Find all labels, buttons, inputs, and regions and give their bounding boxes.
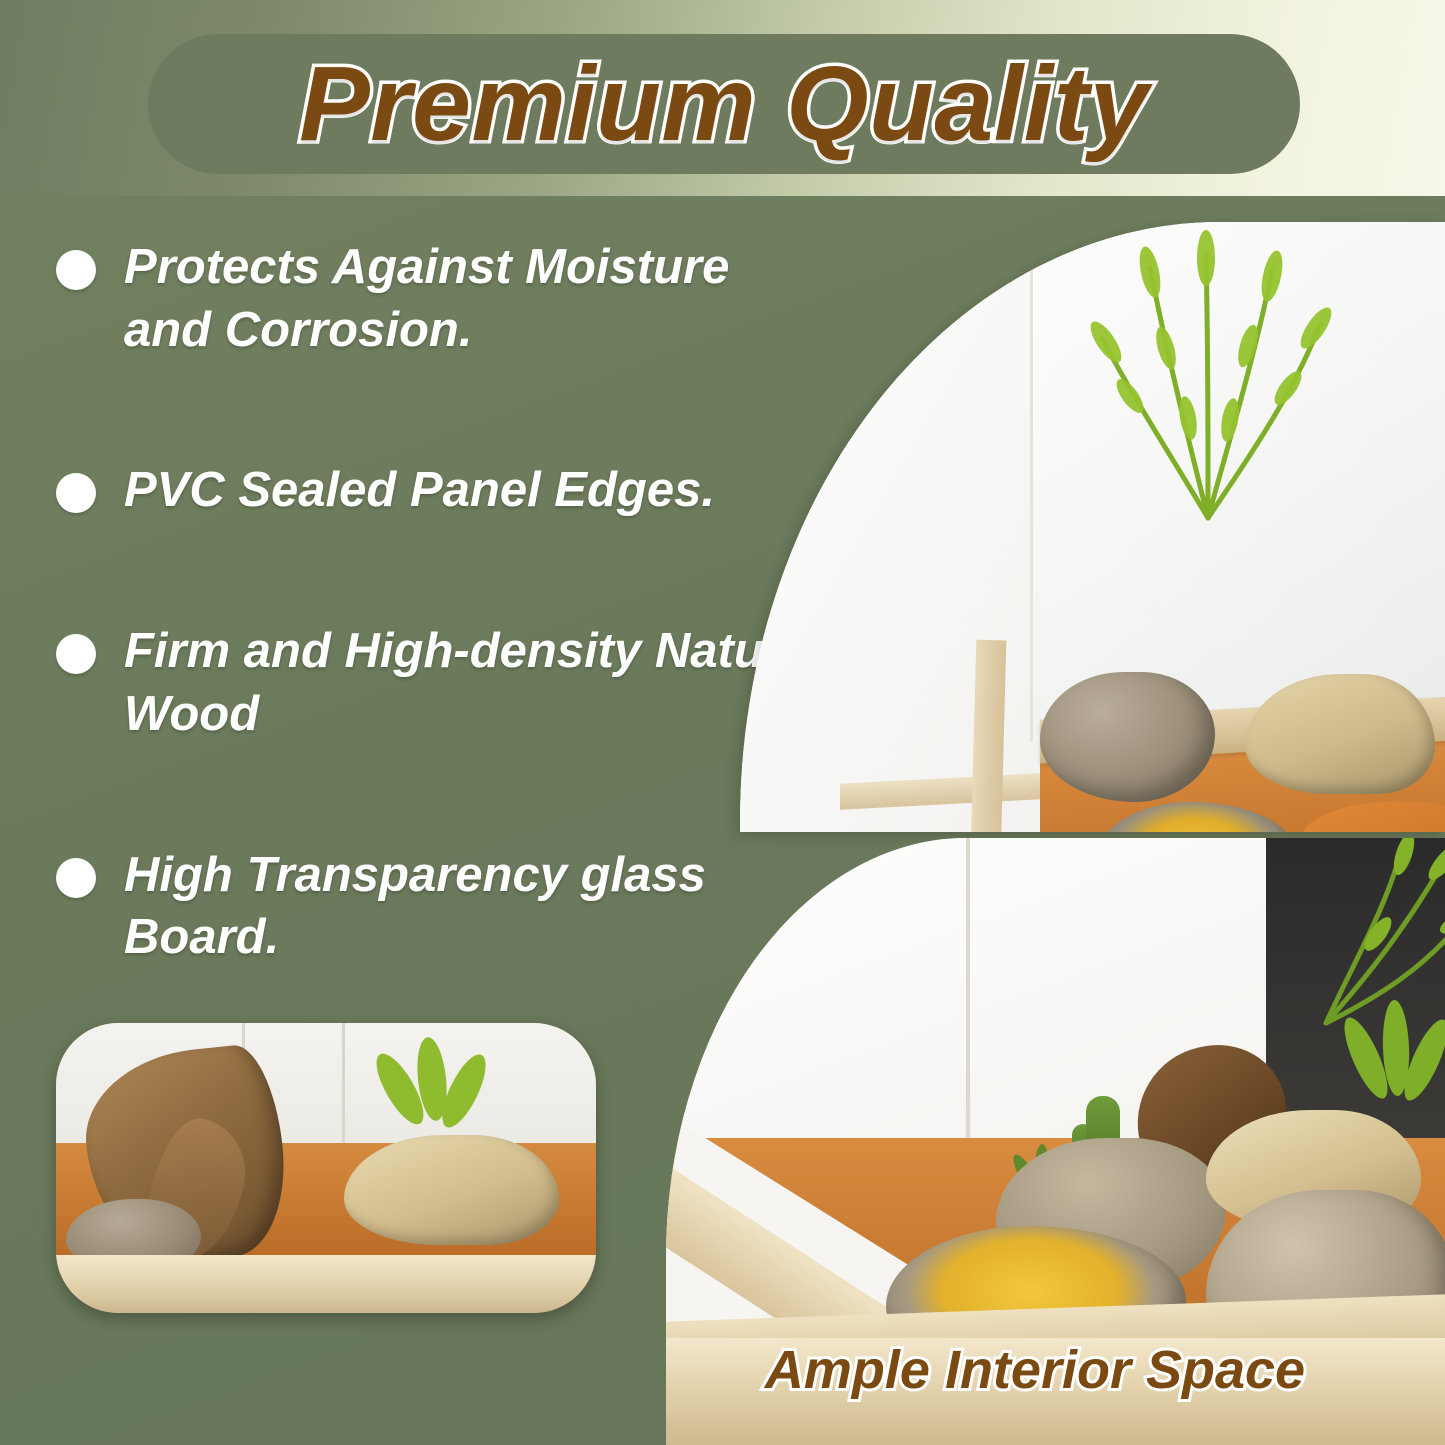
bullet-dot-icon <box>56 473 96 513</box>
bullet-dot-icon <box>56 634 96 674</box>
wood-front-rail <box>56 1255 596 1313</box>
bullet-dot-icon <box>56 250 96 290</box>
fern-icon <box>1058 228 1338 528</box>
feature-label: Protects Against Moisture and Corrosion. <box>124 236 824 361</box>
fern-plant-decor <box>1058 228 1338 528</box>
bullet-dot-icon <box>56 858 96 898</box>
product-photo-inset <box>56 1023 596 1313</box>
rock-hide-decor <box>1040 672 1215 802</box>
list-item: Firm and High-density Natural Wood <box>56 620 846 745</box>
glass-door-seam <box>966 838 970 1168</box>
feature-label: Firm and High-density Natural Wood <box>124 620 824 745</box>
dinosaur-skull-decor <box>344 1135 559 1245</box>
list-item: Protects Against Moisture and Corrosion. <box>56 236 846 361</box>
bottom-caption: Ample Interior Space <box>640 1330 1430 1410</box>
terrarium-scene-top <box>740 222 1445 832</box>
page-title: Premium Quality <box>148 34 1300 174</box>
feature-label: PVC Sealed Panel Edges. <box>124 459 715 522</box>
list-item: PVC Sealed Panel Edges. <box>56 459 846 522</box>
product-photo-top-right <box>740 222 1445 832</box>
